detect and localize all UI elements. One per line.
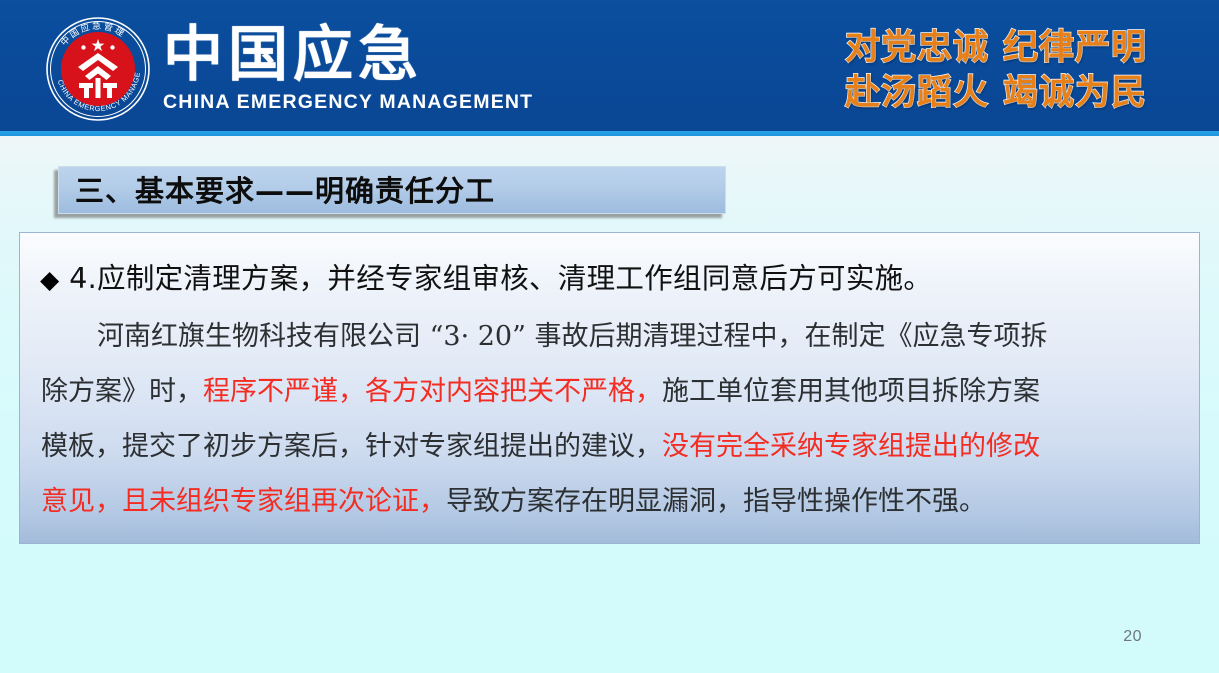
body-text: 河南红旗生物科技有限公司 “3·: [97, 321, 469, 352]
section-title-plate: 三、基本要求——明确责任分工: [58, 166, 726, 214]
slogan-phrase-1b: 纪律严明: [1003, 28, 1147, 68]
body-paragraph-line: 除方案》时，程序不严谨，各方对内容把关不严格，施工单位套用其他项目拆除方案: [41, 364, 1184, 419]
slogan-phrase-2b: 竭诚为民: [1003, 73, 1147, 113]
slogan-phrase-1a: 对党忠诚: [845, 28, 989, 68]
highlighted-text: 意见，且未组织专家组再次论证，: [41, 486, 446, 517]
brand-wordmark: 中国应急 CHINA EMERGENCY MANAGEMENT: [163, 24, 583, 114]
section-title-bar: 三、基本要求——明确责任分工: [58, 166, 726, 214]
body-text: 施工单位套用其他项目拆除方案: [662, 376, 1040, 407]
brand-wordmark-cn: 中国应急: [163, 24, 583, 87]
highlighted-text: 程序不严谨，各方对内容把关不严格，: [203, 376, 662, 407]
body-paragraph-line: 意见，且未组织专家组再次论证，导致方案存在明显漏洞，指导性操作性不强。: [41, 474, 1184, 529]
bullet-heading: ◆ 4.应制定清理方案，并经专家组审核、清理工作组同意后方可实施。: [40, 256, 1180, 297]
slide: 中国应急管理 CHINA EMERGENCY MANAGEMENT 中国应急 C…: [0, 0, 1219, 673]
body-text: 20” 事故后期清理过程中，在制定《应急专项拆: [469, 321, 1047, 352]
header-slogan: 对党忠诚纪律严明 赴汤蹈火竭诚为民: [845, 26, 1147, 116]
body-text: 除方案》时，: [41, 376, 203, 407]
content-panel: ◆ 4.应制定清理方案，并经专家组审核、清理工作组同意后方可实施。 河南红旗生物…: [19, 232, 1200, 544]
brand-wordmark-en: CHINA EMERGENCY MANAGEMENT: [163, 91, 583, 114]
china-emergency-management-emblem-icon: 中国应急管理 CHINA EMERGENCY MANAGEMENT: [45, 16, 151, 122]
body-paragraph-line: 模板，提交了初步方案后，针对专家组提出的建议，没有完全采纳专家组提出的修改: [41, 419, 1184, 474]
page-number: 20: [1123, 628, 1142, 646]
section-title-text: 三、基本要求——明确责任分工: [75, 168, 495, 210]
header-slogan-line-1: 对党忠诚纪律严明: [845, 26, 1147, 71]
diamond-bullet-icon: ◆: [40, 267, 59, 292]
body-text: 导致方案存在明显漏洞，指导性操作性不强。: [446, 486, 986, 517]
slogan-phrase-2a: 赴汤蹈火: [845, 73, 989, 113]
body-paragraph: 河南红旗生物科技有限公司 “3· 20” 事故后期清理过程中，在制定《应急专项拆…: [41, 309, 1184, 529]
body-paragraph-line: 河南红旗生物科技有限公司 “3· 20” 事故后期清理过程中，在制定《应急专项拆: [41, 309, 1184, 364]
body-text: 模板，提交了初步方案后，针对专家组提出的建议，: [41, 431, 662, 462]
header-accent-line: [0, 131, 1219, 136]
header-slogan-line-2: 赴汤蹈火竭诚为民: [845, 71, 1147, 116]
highlighted-text: 没有完全采纳专家组提出的修改: [662, 431, 1040, 462]
bullet-heading-text: 4.应制定清理方案，并经专家组审核、清理工作组同意后方可实施。: [69, 256, 932, 297]
